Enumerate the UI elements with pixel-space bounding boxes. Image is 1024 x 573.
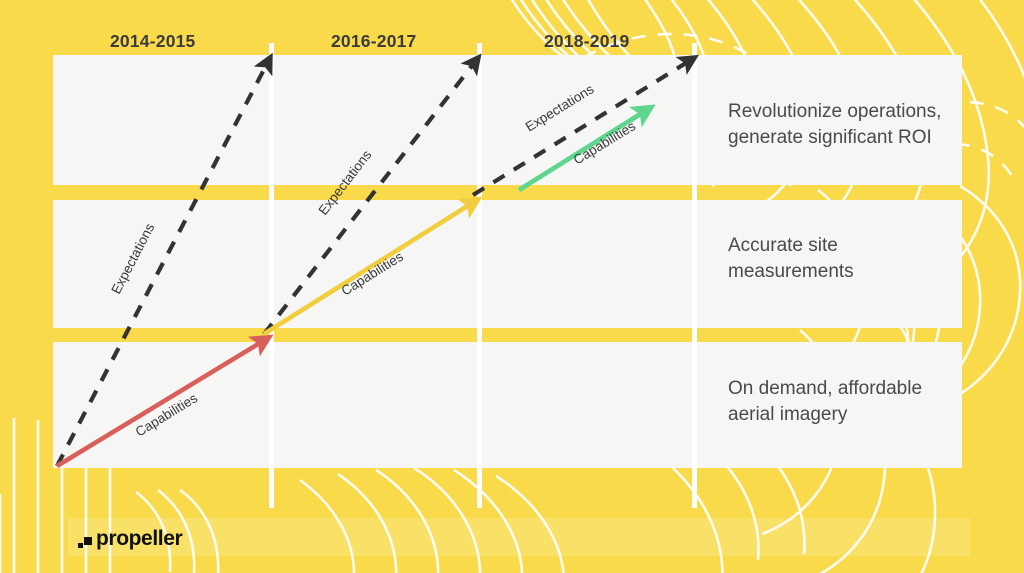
era-label-2014-2015: 2014-2015 xyxy=(110,31,196,52)
two-squares-icon xyxy=(78,534,93,549)
footer-bar xyxy=(68,518,970,556)
column-divider-2 xyxy=(477,43,482,508)
era-label-2016-2017: 2016-2017 xyxy=(331,31,417,52)
stage-description-imagery: On demand, affordable aerial imagery xyxy=(728,376,978,428)
stage-description-measurements: Accurate site measurements xyxy=(728,233,978,285)
infographic-canvas: 2014-2015 2016-2017 2018-2019 Revolution… xyxy=(0,0,1024,573)
propeller-logo: propeller xyxy=(78,527,182,549)
brand-wordmark: propeller xyxy=(96,528,182,549)
era-label-2018-2019: 2018-2019 xyxy=(544,31,630,52)
stage-description-revolutionize: Revolutionize operations, generate signi… xyxy=(728,99,978,151)
column-divider-3 xyxy=(692,43,697,508)
column-divider-1 xyxy=(269,43,274,508)
